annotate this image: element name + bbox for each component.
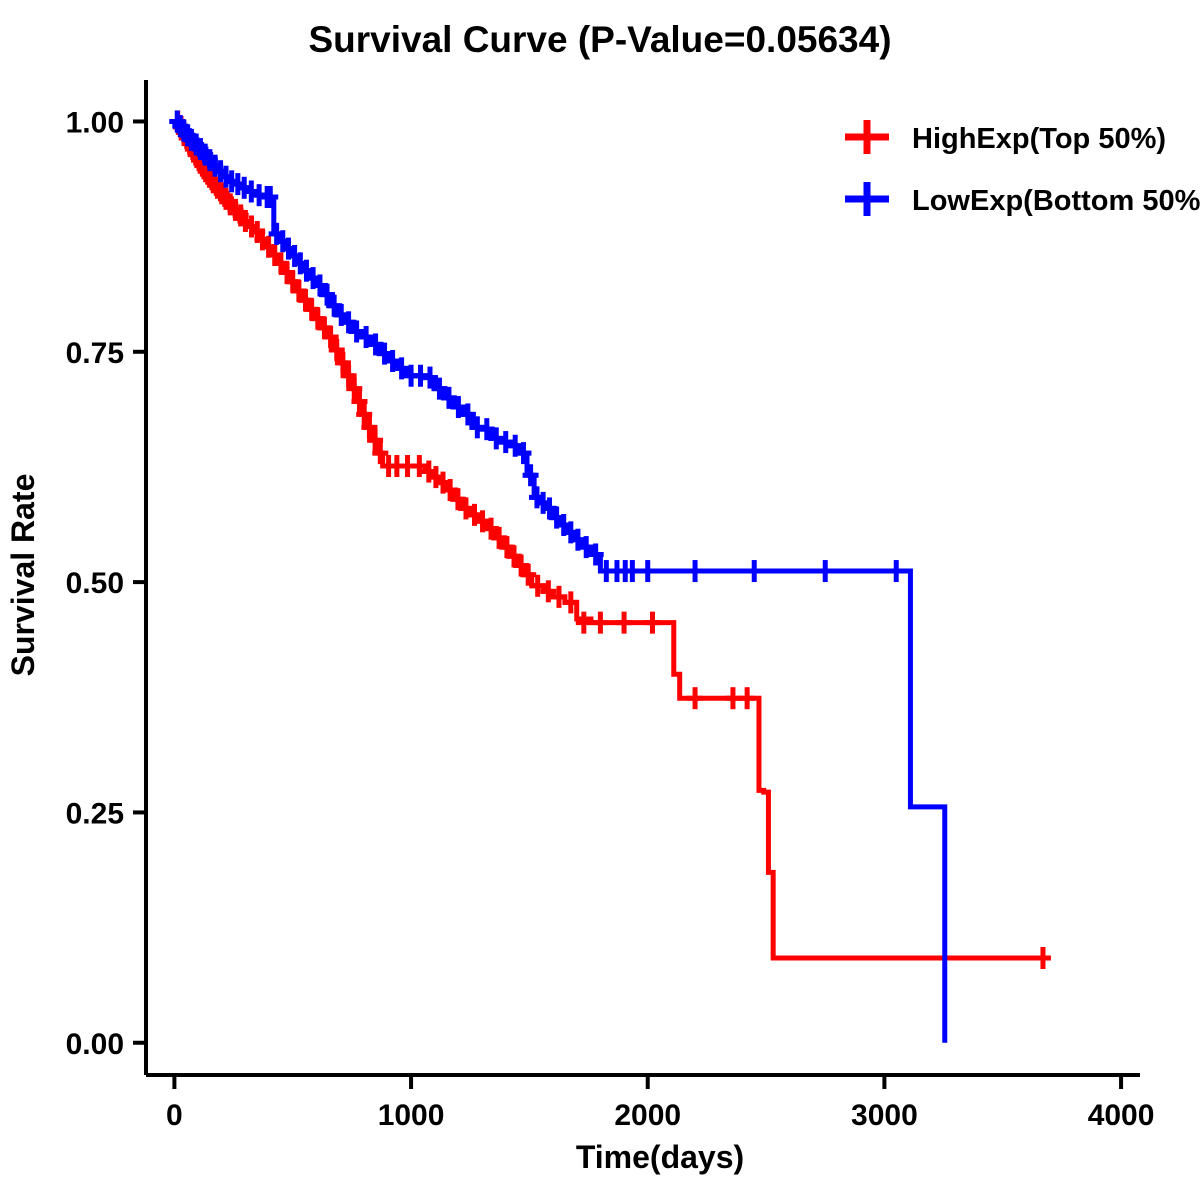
y-axis-title: Survival Rate — [5, 474, 41, 677]
x-tick-label: 1000 — [378, 1099, 445, 1132]
chart-title: Survival Curve (P-Value=0.05634) — [308, 19, 891, 60]
y-tick-label: 1.00 — [66, 106, 124, 139]
y-tick-label: 0.75 — [66, 337, 124, 370]
legend-label: HighExp(Top 50%) — [912, 123, 1166, 155]
x-tick-label: 3000 — [851, 1099, 918, 1132]
y-tick-label: 0.50 — [66, 567, 124, 600]
x-tick-label: 2000 — [614, 1099, 681, 1132]
survival-curve-figure: Survival Curve (P-Value=0.05634) 0.000.2… — [0, 0, 1200, 1200]
y-tick-label: 0.00 — [66, 1028, 124, 1061]
x-axis-title: Time(days) — [576, 1139, 744, 1175]
y-tick-label: 0.25 — [66, 797, 124, 830]
x-tick-label: 4000 — [1088, 1099, 1155, 1132]
legend-label: LowExp(Bottom 50%) — [912, 185, 1200, 217]
chart-canvas: Survival Curve (P-Value=0.05634) 0.000.2… — [0, 0, 1200, 1200]
figure-background — [0, 0, 1200, 1200]
x-tick-label: 0 — [166, 1099, 183, 1132]
